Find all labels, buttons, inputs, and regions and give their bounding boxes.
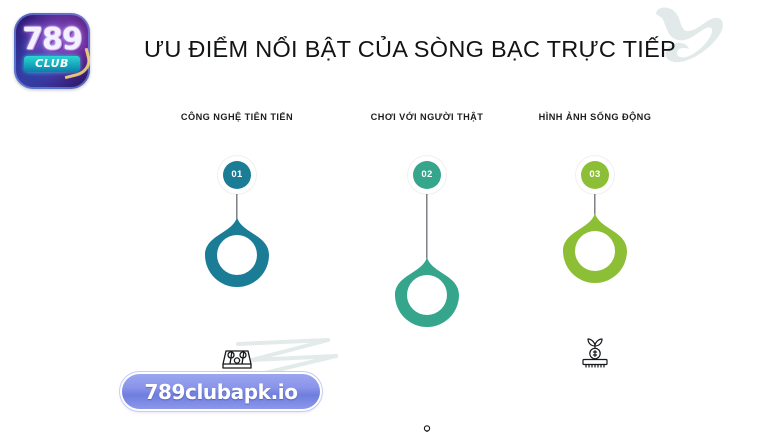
casino-table-icon — [222, 345, 252, 371]
connector-line-2 — [426, 194, 427, 264]
feature-badge-2[interactable]: 02 — [408, 156, 446, 194]
badge-number-3: 03 — [581, 161, 609, 189]
page-title: ƯU ĐIỂM NỔI BẬT CỦA SÒNG BẠC TRỰC TIẾP — [120, 36, 700, 63]
feature-column-1: CÔNG NGHỆ TIÊN TIẾN 01 — [137, 112, 337, 122]
feature-pin-3[interactable] — [563, 213, 627, 283]
badge-number-2: 02 — [413, 161, 441, 189]
infographic-canvas: 789 CLUB ƯU ĐIỂM NỔI BẬT CỦA SÒNG BẠC TR… — [0, 0, 768, 432]
badge-number-1: 01 — [223, 161, 251, 189]
feature-column-3: HÌNH ẢNH SỐNG ĐỘNG 03 — [495, 112, 695, 122]
cta-label: 789clubapk.io — [144, 380, 297, 404]
feature-pin-2[interactable] — [395, 257, 459, 327]
website-cta-button[interactable]: 789clubapk.io — [122, 374, 320, 409]
feature-label-1: CÔNG NGHỆ TIÊN TIẾN — [137, 112, 337, 122]
feature-pin-1[interactable] — [205, 217, 269, 287]
feature-badge-3[interactable]: 03 — [576, 156, 614, 194]
feature-label-3: HÌNH ẢNH SỐNG ĐỘNG — [495, 112, 695, 122]
network-globe-icon — [411, 425, 443, 432]
app-logo[interactable]: 789 CLUB — [14, 13, 90, 89]
coin-scale-icon — [580, 337, 610, 369]
feature-badge-1[interactable]: 01 — [218, 156, 256, 194]
